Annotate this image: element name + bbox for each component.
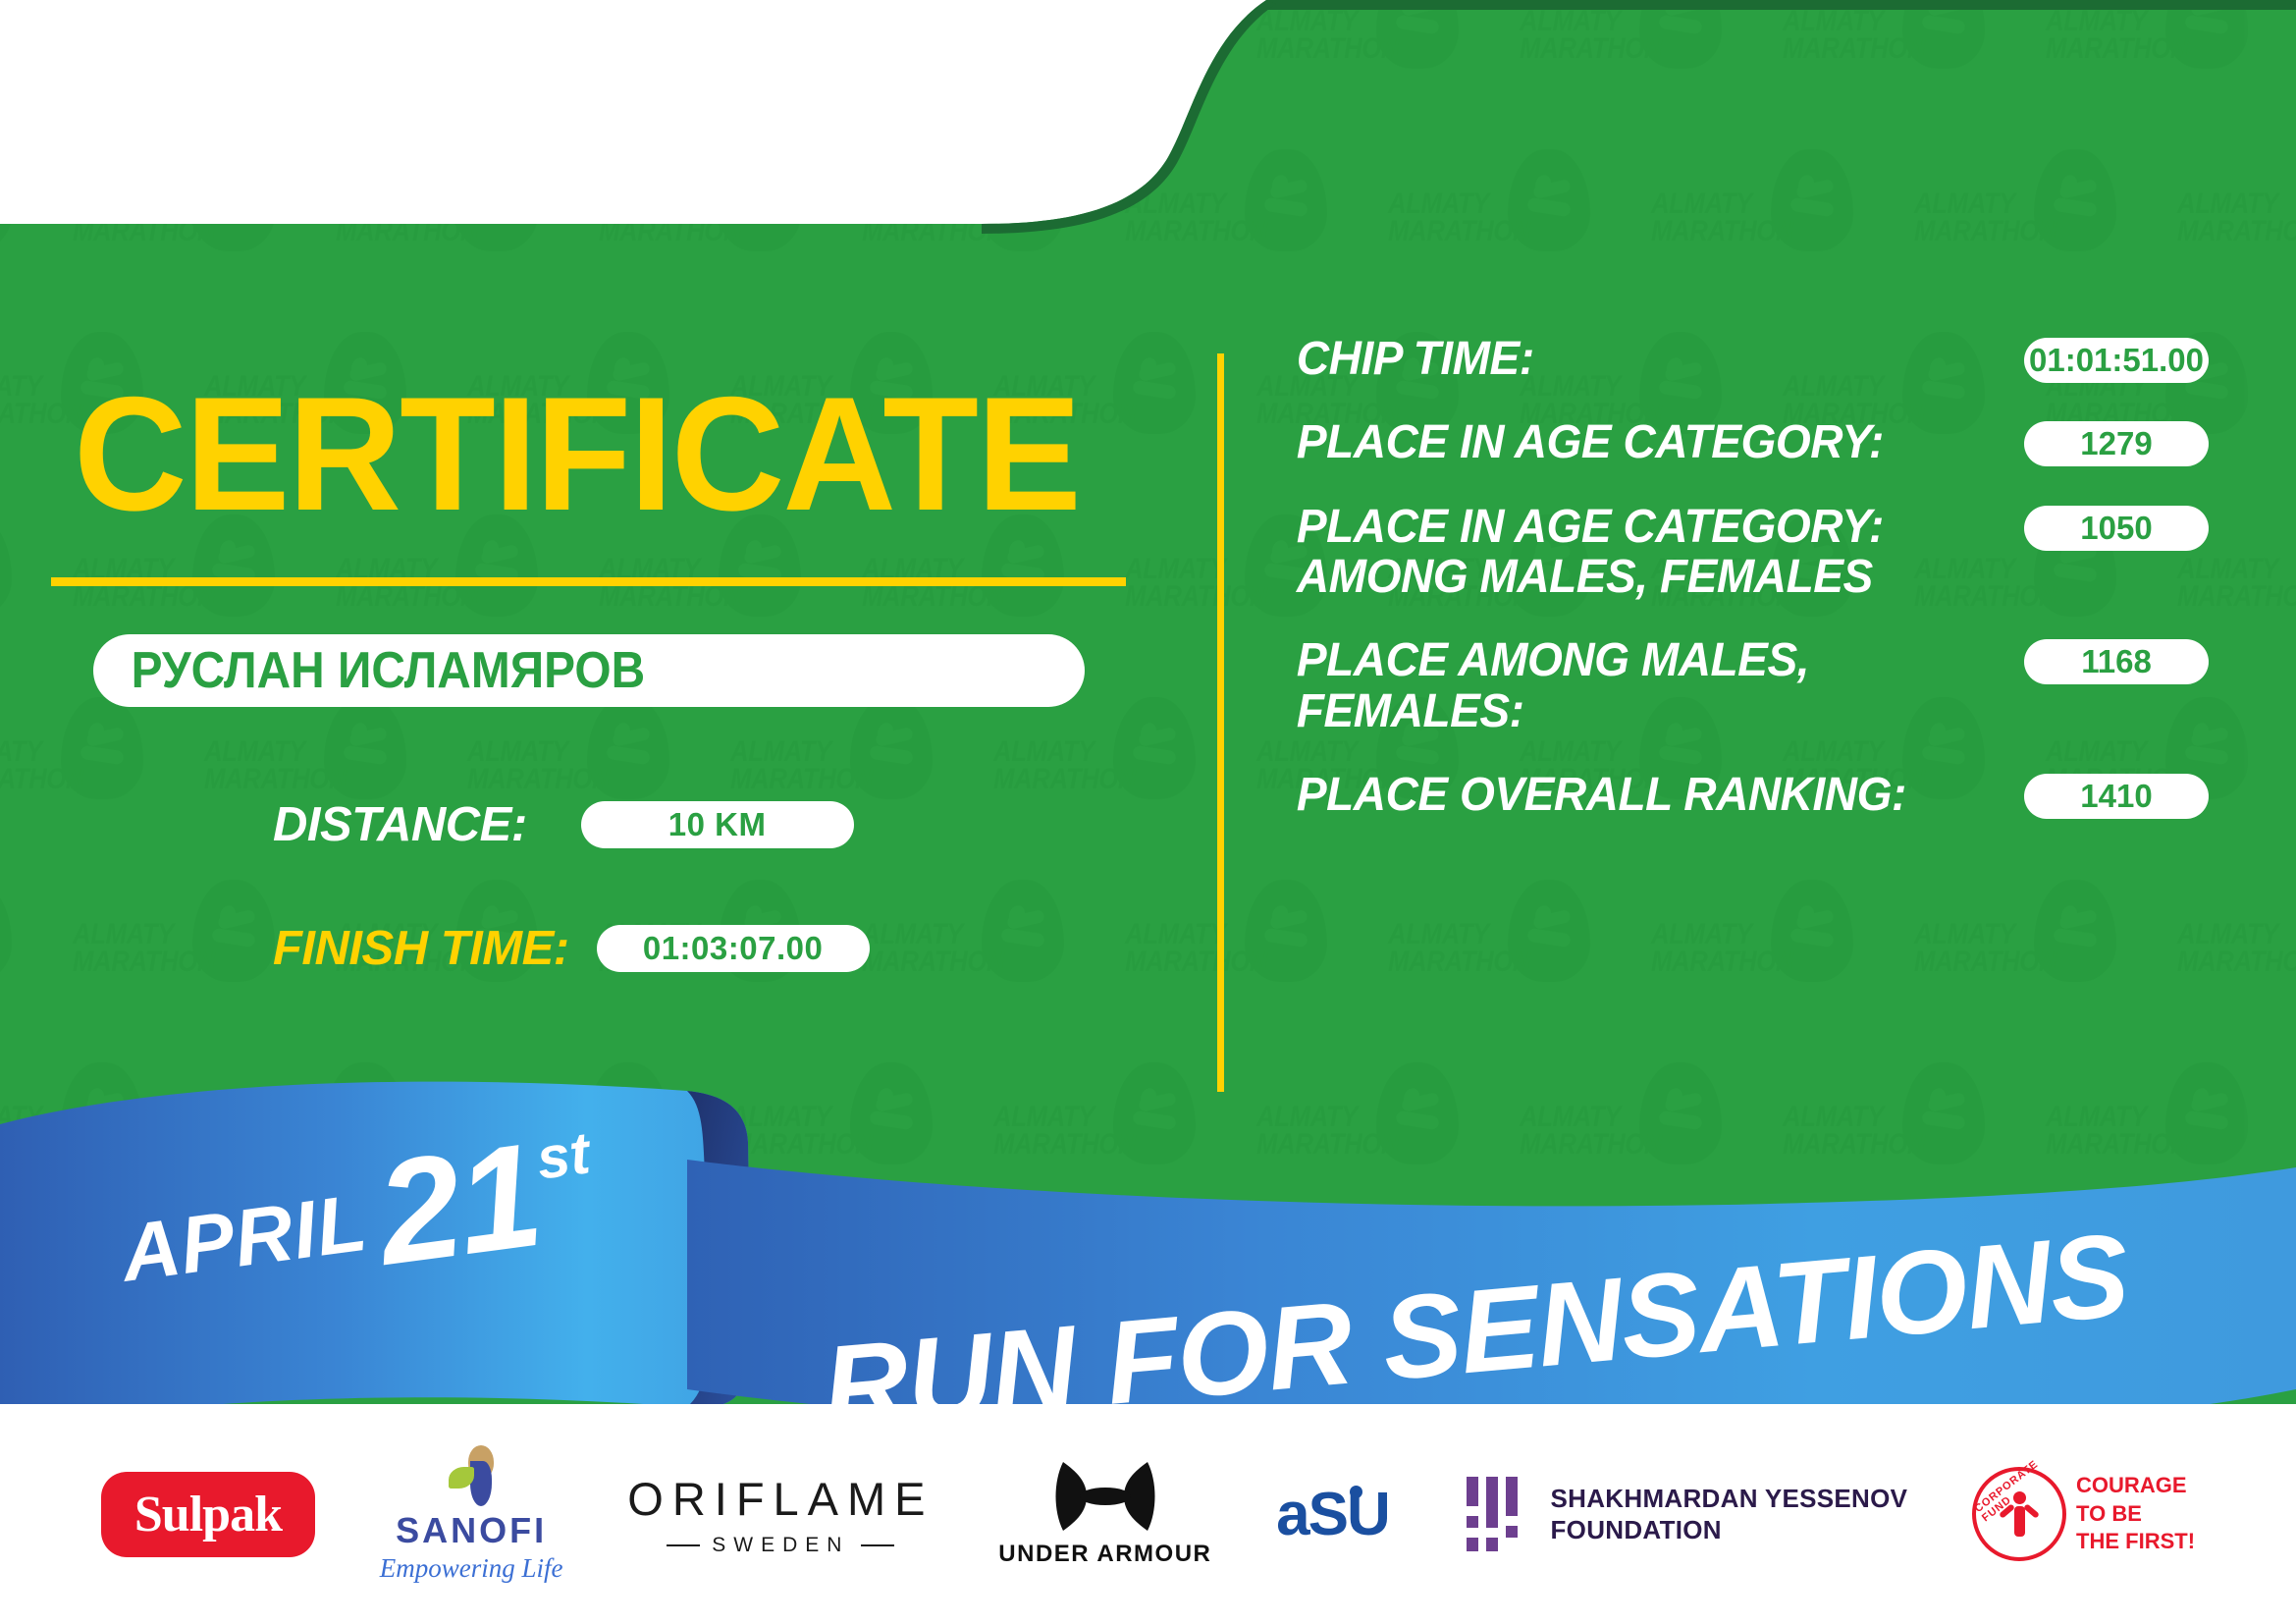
courage-line-3: THE FIRST!: [2076, 1528, 2195, 1556]
oriflame-rule-left: [667, 1544, 700, 1546]
sponsor-sanofi: SANOFI Empowering Life: [380, 1445, 563, 1584]
watermark-tile: ALMATYMARATHON: [2177, 874, 2296, 1021]
oriflame-rule-right: [861, 1544, 894, 1546]
title-divider: [51, 577, 1126, 586]
stat-row: PLACE OVERALL RANKING:1410: [1266, 770, 2209, 820]
watermark-tile: ALMATYMARATHON: [1520, 0, 1731, 108]
participant-name-field: РУСЛАН ИСЛАМЯРОВ: [93, 634, 1085, 707]
watermark-tile: ALMATYMARATHON: [1388, 874, 1599, 1021]
sanofi-wordmark: SANOFI: [396, 1510, 547, 1551]
stat-label: PLACE IN AGE CATEGORY:AMONG MALES, FEMAL…: [1297, 502, 2024, 603]
yessenov-bars-icon: [1467, 1477, 1531, 1551]
distance-value: 10 KM: [581, 801, 854, 848]
sponsor-under-armour: UNDER ARMOUR: [998, 1460, 1211, 1568]
yessenov-line-1: SHAKHMARDAN YESSENOV: [1551, 1483, 1908, 1515]
stat-value: 1050: [2024, 506, 2209, 551]
stat-value: 1168: [2024, 639, 2209, 684]
stat-label-line: PLACE IN AGE CATEGORY:: [1297, 417, 2000, 467]
stat-label: PLACE AMONG MALES,FEMALES:: [1297, 635, 2024, 736]
stat-row: PLACE IN AGE CATEGORY:1279: [1266, 417, 2209, 467]
oriflame-wordmark: ORIFLAME: [627, 1472, 934, 1526]
watermark-tile: ALMATYMARATHON: [1783, 0, 1994, 108]
sulpak-logo: Sulpak: [101, 1472, 315, 1557]
stats-column: CHIP TIME:01:01:51.00PLACE IN AGE CATEGO…: [1266, 334, 2209, 854]
stat-label-line: PLACE IN AGE CATEGORY:: [1297, 502, 2000, 552]
courage-fund-figure-icon: [2002, 1491, 2036, 1537]
oriflame-country: SWEDEN: [712, 1534, 849, 1557]
stat-label-line: AMONG MALES, FEMALES: [1297, 552, 2000, 602]
under-armour-wordmark: UNDER ARMOUR: [998, 1541, 1211, 1568]
distance-label: DISTANCE:: [273, 797, 527, 852]
participant-name: РУСЛАН ИСЛАМЯРОВ: [93, 641, 645, 700]
watermark-tile: ALMATYMARATHON: [1388, 143, 1599, 291]
event-month: APRIL: [116, 1177, 372, 1301]
stat-row: CHIP TIME:01:01:51.00: [1266, 334, 2209, 384]
stat-label: PLACE IN AGE CATEGORY:: [1297, 417, 2024, 467]
sponsor-courage-fund: CORPORATE FUND COURAGE TO BE THE FIRST!: [1972, 1467, 2195, 1561]
watermark-tile: ALMATYMARATHON: [1651, 143, 1862, 291]
watermark-tile: ALMATYMARATHON: [1651, 874, 1862, 1021]
watermark-tile: ALMATYMARATHON: [1914, 143, 2125, 291]
event-day-suffix: st: [533, 1118, 594, 1192]
stat-label-line: FEMALES:: [1297, 686, 2000, 736]
sanofi-mark-icon: [441, 1445, 502, 1506]
oriflame-subline: SWEDEN: [667, 1534, 894, 1557]
stat-row: PLACE IN AGE CATEGORY:AMONG MALES, FEMAL…: [1266, 502, 2209, 603]
stat-label-line: PLACE AMONG MALES,: [1297, 635, 2000, 685]
event-day: 21: [368, 1110, 549, 1299]
certificate-page: ALMATYMARATHONALMATYMARATHONALMATYMARATH…: [0, 0, 2296, 1624]
sponsor-sulpak: Sulpak: [101, 1472, 315, 1557]
page-title: CERTIFICATE: [74, 373, 1080, 535]
stat-label: PLACE OVERALL RANKING:: [1297, 770, 2024, 820]
stat-value: 1279: [2024, 421, 2209, 466]
asu-wordmark: aSU: [1276, 1480, 1402, 1549]
yessenov-line-2: FOUNDATION: [1551, 1514, 1908, 1546]
courage-line-1: COURAGE: [2076, 1472, 2195, 1500]
courage-fund-wordmark: COURAGE TO BE THE FIRST!: [2076, 1472, 2195, 1556]
under-armour-icon: [1047, 1460, 1163, 1533]
watermark-tile: ALMATYMARATHON: [1914, 874, 2125, 1021]
asu-text: aSU: [1276, 1480, 1389, 1549]
watermark-tile: ALMATYMARATHON: [2046, 0, 2257, 108]
stat-label-line: CHIP TIME:: [1297, 334, 2000, 384]
sponsor-asu: aSU: [1276, 1480, 1402, 1549]
sponsor-bar: Sulpak SANOFI Empowering Life ORIFLAME S…: [0, 1404, 2296, 1624]
yessenov-wordmark: SHAKHMARDAN YESSENOV FOUNDATION: [1551, 1483, 1908, 1546]
column-divider: [1217, 353, 1224, 1092]
stat-label-line: PLACE OVERALL RANKING:: [1297, 770, 2000, 820]
courage-fund-ring-icon: CORPORATE FUND: [1972, 1467, 2066, 1561]
stat-row: PLACE AMONG MALES,FEMALES:1168: [1266, 635, 2209, 736]
sponsor-oriflame: ORIFLAME SWEDEN: [627, 1472, 934, 1557]
finish-time-value: 01:03:07.00: [597, 925, 870, 972]
distance-row: DISTANCE: 10 KM: [273, 797, 854, 852]
finish-time-label: FINISH TIME:: [273, 921, 569, 976]
stat-value: 1410: [2024, 774, 2209, 819]
asu-dot-icon: [1350, 1486, 1362, 1498]
courage-line-2: TO BE: [2076, 1500, 2195, 1529]
stat-label: CHIP TIME:: [1297, 334, 2024, 384]
sponsor-yessenov: SHAKHMARDAN YESSENOV FOUNDATION: [1467, 1477, 1908, 1551]
stat-value: 01:01:51.00: [2024, 338, 2209, 383]
sanofi-tagline: Empowering Life: [380, 1553, 563, 1584]
watermark-tile: ALMATYMARATHON: [2177, 143, 2296, 291]
finish-time-row: FINISH TIME: 01:03:07.00: [273, 921, 870, 976]
